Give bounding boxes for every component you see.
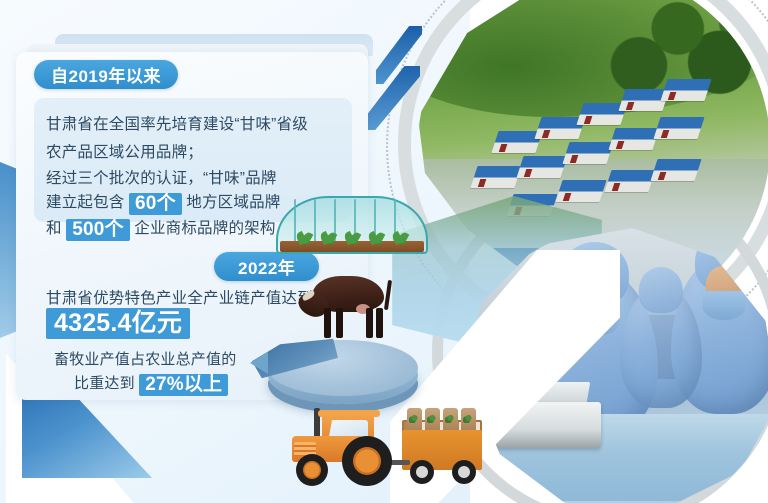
local-brands-suffix: 地方区域品牌 <box>186 194 280 211</box>
village-house <box>555 180 606 202</box>
village-house <box>654 117 705 139</box>
village-house <box>608 128 659 150</box>
greenhouse-seedling <box>300 229 310 244</box>
livestock-share-prefix: 比重达到 <box>74 375 135 392</box>
trailer-wheel <box>410 460 434 484</box>
produce-sack <box>461 408 476 432</box>
greenhouse-seedling <box>324 229 334 244</box>
highlight-chain-value: 4325.4亿元 <box>46 308 190 339</box>
cow-leg <box>336 308 343 338</box>
statement-line-1: 甘肃省在全国率先培育建设“甘味”省级 <box>46 112 308 134</box>
village-house <box>517 156 568 178</box>
highlight-trademark-count: 500个 <box>66 219 130 241</box>
trailer-wheel <box>452 460 476 484</box>
greenhouse-seedling <box>348 229 358 244</box>
statement-line-chain-output: 甘肃省优势特色产业全产业链产值达到 <box>46 286 313 308</box>
statement-line-2: 农产品区域公用品牌； <box>46 140 203 162</box>
cow-illustration <box>296 272 392 342</box>
tractor-front-wheel <box>296 454 328 486</box>
tractor-illustration <box>274 408 484 494</box>
cow-leg <box>376 308 383 338</box>
worker-hood <box>639 267 683 313</box>
village-house <box>605 170 656 192</box>
trademark-prefix: 和 <box>46 220 62 237</box>
produce-sack <box>425 408 440 432</box>
pie-chart-callout-arrow <box>250 352 268 374</box>
cow-tail <box>384 280 392 310</box>
highlight-local-brand-count: 60个 <box>129 193 182 215</box>
local-brands-prefix: 建立起包含 <box>46 194 125 211</box>
produce-sack <box>443 408 458 432</box>
worker-mask <box>703 291 746 319</box>
statement-line-trademark-brands: 和 500个 企业商标品牌的架构 <box>46 216 276 241</box>
pie-chart-illustration <box>256 336 426 412</box>
badge-since-2019[interactable]: 自2019年以来 <box>34 60 178 89</box>
village-house <box>471 166 522 188</box>
trademark-suffix: 企业商标品牌的架构 <box>134 220 275 237</box>
statement-line-chain-value: 4325.4亿元 <box>46 308 190 339</box>
statement-line-3: 经过三个批次的认证，“甘味”品牌 <box>46 166 277 188</box>
produce-sack <box>407 408 422 432</box>
village-house <box>562 142 613 164</box>
village-house <box>650 159 701 181</box>
highlight-livestock-share: 27%以上 <box>139 374 228 396</box>
greenhouse-seedling <box>372 229 382 244</box>
cow-leg <box>324 308 331 338</box>
statement-line-livestock-2: 比重达到 27%以上 <box>74 372 228 396</box>
statement-line-local-brands: 建立起包含 60个 地方区域品牌 <box>46 190 280 215</box>
statement-line-livestock-1: 畜牧业产值占农业总产值的 <box>54 348 236 369</box>
village-house <box>661 79 712 101</box>
greenhouse-seedling <box>396 229 406 244</box>
tractor-rear-wheel <box>342 436 392 486</box>
cow-leg <box>366 308 373 338</box>
infographic-canvas: 自2019年以来 2022年 甘肃省在全国率先培育建设“甘味”省级 农产品区域公… <box>0 0 768 503</box>
greenhouse-illustration <box>276 196 428 254</box>
